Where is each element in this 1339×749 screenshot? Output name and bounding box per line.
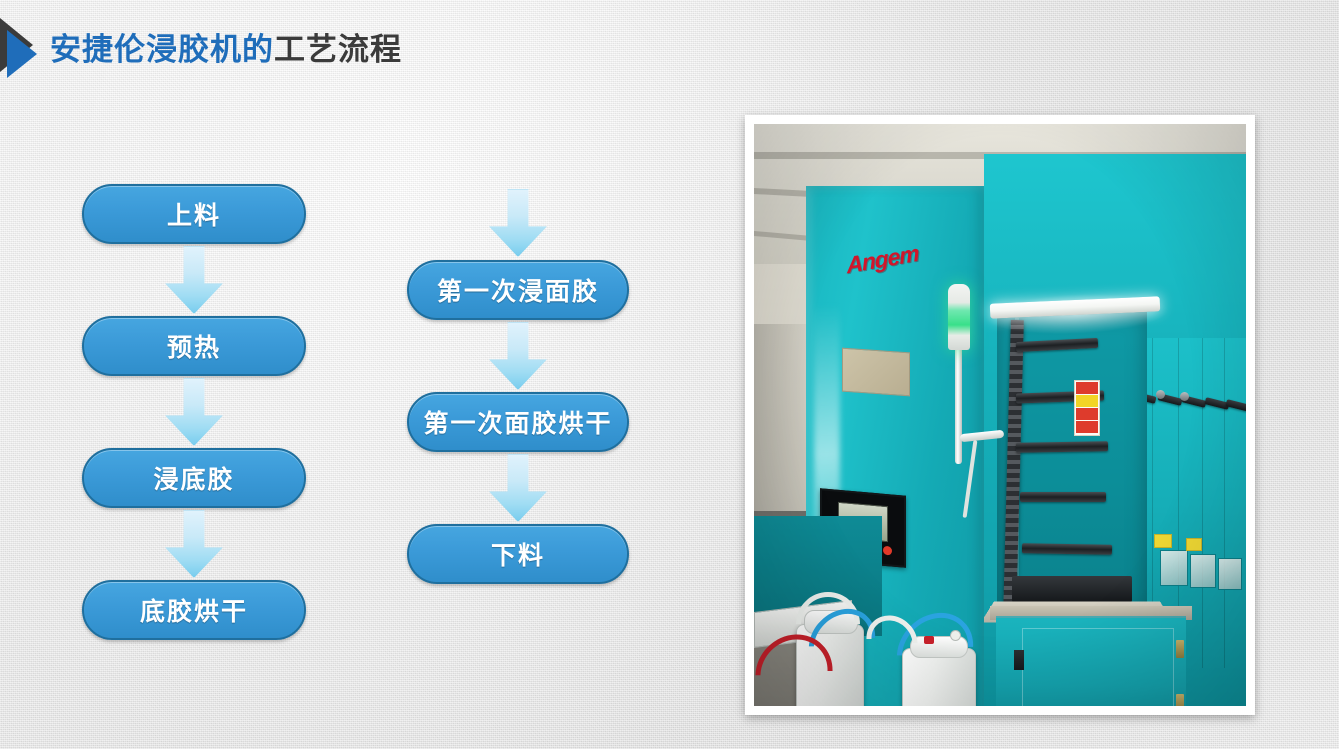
cabinet-divider: [1202, 338, 1203, 668]
machine-photo-frame: Angem: [745, 115, 1255, 715]
inspection-window: [1218, 558, 1242, 590]
down-arrow-icon: [489, 189, 547, 257]
flowchart-right-column: 第一次浸面胶 第一次面胶烘干 下料: [407, 186, 629, 584]
inspection-window: [1190, 554, 1216, 588]
flow-step-box[interactable]: 第一次面胶烘干: [407, 392, 629, 452]
inspection-window: [1160, 550, 1188, 586]
warning-row: [1076, 395, 1098, 407]
warning-row: [1076, 382, 1098, 394]
triangle-arrow-blue-icon: [7, 30, 37, 78]
stack-light-tower: [948, 284, 970, 350]
safety-warning-sticker: [1074, 380, 1100, 436]
red-valve: [924, 636, 934, 644]
yellow-sticker: [1186, 538, 1202, 551]
cabinet-door[interactable]: [1022, 628, 1174, 706]
slide-title-bar: 安捷伦浸胶机的工艺流程: [0, 14, 402, 84]
page-title-secondary: 工艺流程: [274, 32, 402, 67]
rack-bar: [1016, 441, 1108, 453]
cabinet-handle-knob[interactable]: [1180, 392, 1189, 401]
down-arrow-icon: [165, 510, 223, 578]
cabinet-hinge: [1176, 694, 1184, 706]
down-arrow-icon: [489, 454, 547, 522]
triangle-arrow-icon: [0, 16, 44, 82]
yellow-sticker: [1154, 534, 1172, 548]
panel-button-red[interactable]: [883, 546, 892, 556]
down-arrow-icon: [489, 322, 547, 390]
page-title-primary: 安捷伦浸胶机的: [50, 32, 274, 67]
flow-connector: [407, 320, 629, 392]
stack-light-pole: [955, 344, 962, 464]
pressure-gauge: [950, 630, 961, 641]
flow-step-box[interactable]: 预热: [82, 316, 306, 376]
rack-bar: [1020, 492, 1106, 502]
lower-cabinet[interactable]: [996, 616, 1186, 706]
page-title: 安捷伦浸胶机的工艺流程: [50, 34, 402, 65]
bay-base-fixture: [1012, 576, 1132, 602]
cabinet-latch[interactable]: [1014, 650, 1024, 670]
slide-canvas: 安捷伦浸胶机的工艺流程 上料 预热 浸底胶 底胶烘干 第一次浸面胶 第一次面胶烘…: [0, 0, 1339, 749]
flow-step-box[interactable]: 底胶烘干: [82, 580, 306, 640]
flow-step-box[interactable]: 下料: [407, 524, 629, 584]
machine-photo: Angem: [754, 124, 1246, 706]
flow-step-box[interactable]: 浸底胶: [82, 448, 306, 508]
flowchart-left-column: 上料 预热 浸底胶 底胶烘干: [82, 184, 306, 640]
flow-step-box[interactable]: 上料: [82, 184, 306, 244]
flow-connector: [407, 186, 629, 260]
flow-connector: [82, 244, 306, 316]
flow-connector: [82, 376, 306, 448]
warning-row: [1076, 408, 1098, 420]
down-arrow-icon: [165, 378, 223, 446]
warning-row: [1076, 421, 1098, 433]
flow-step-box[interactable]: 第一次浸面胶: [407, 260, 629, 320]
nameplate: [842, 348, 910, 397]
flow-connector: [407, 452, 629, 524]
down-arrow-icon: [165, 246, 223, 314]
cabinet-handle-knob[interactable]: [1156, 390, 1165, 399]
cabinet-hinge: [1176, 640, 1184, 658]
cabinet-divider: [1224, 338, 1225, 668]
rack-bar: [1022, 543, 1112, 555]
flow-connector: [82, 508, 306, 580]
cabinet-handle[interactable]: [1226, 399, 1246, 412]
